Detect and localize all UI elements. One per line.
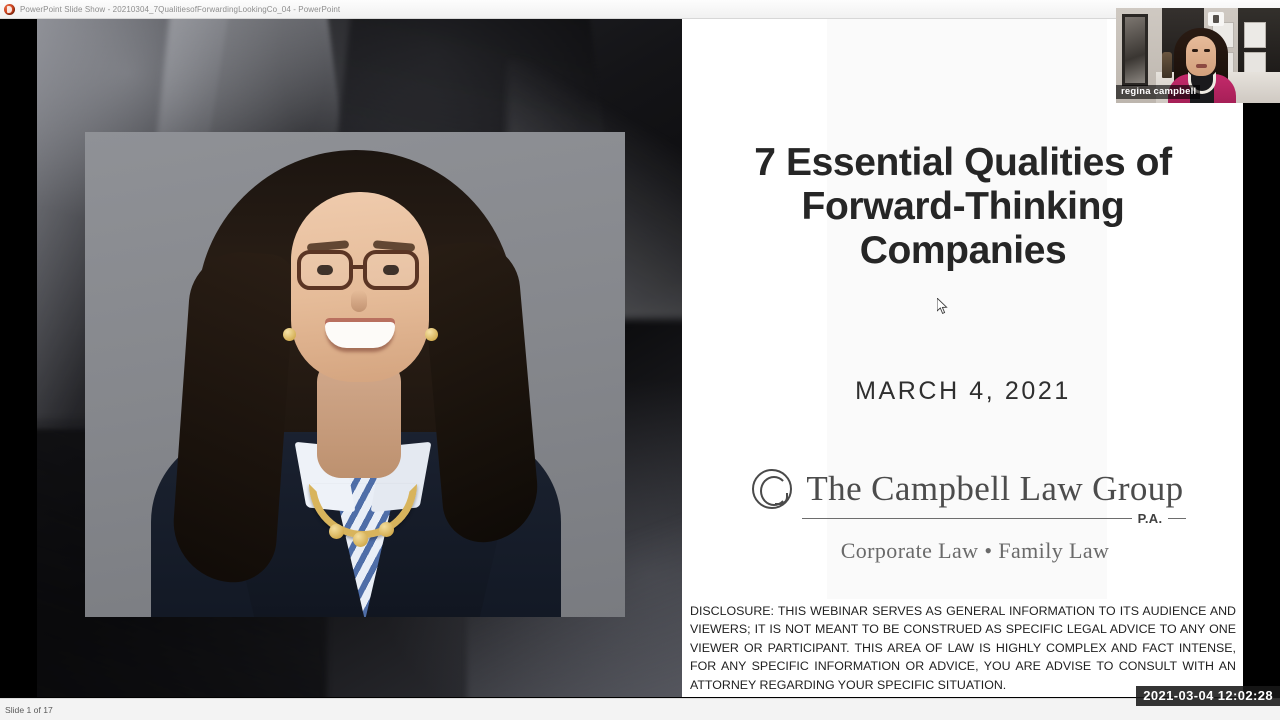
webcam-award-statue (1162, 52, 1172, 78)
portrait-glasses-right (363, 250, 419, 290)
portrait-glasses-left (297, 250, 353, 290)
window-title-bar: PowerPoint Slide Show - 20210304_7Qualit… (0, 0, 1280, 19)
portrait-necklace-bead (379, 522, 394, 537)
logo-name-row: The Campbell Law Group (712, 469, 1224, 509)
logo-suffix: P.A. (1138, 511, 1163, 526)
slide-canvas[interactable]: 7 Essential Qualities of Forward-Thinkin… (37, 19, 1243, 697)
portrait-nose (351, 290, 367, 312)
webcam-speaker-eye-left (1192, 49, 1198, 52)
webcam-wall-frame (1244, 52, 1266, 74)
portrait-earring-left (283, 328, 296, 341)
slideshow-status-bar: Slide 1 of 17 (0, 698, 1280, 720)
company-logo: The Campbell Law Group P.A. Corporate La… (712, 469, 1224, 564)
portrait-glasses-bridge (351, 265, 367, 269)
circled-c-monogram-icon (752, 469, 792, 509)
slide-photo-panel (37, 19, 682, 697)
slide-content-panel: 7 Essential Qualities of Forward-Thinkin… (682, 19, 1243, 697)
logo-tagline: Corporate Law • Family Law (712, 538, 1224, 564)
webcam-floor-mirror (1122, 14, 1148, 86)
logo-company-name: The Campbell Law Group (806, 469, 1183, 509)
webcam-speaker-eye-right (1204, 49, 1210, 52)
slide-counter: Slide 1 of 17 (0, 705, 53, 715)
portrait-earring-right (425, 328, 438, 341)
powerpoint-slideshow-window: PowerPoint Slide Show - 20210304_7Qualit… (0, 0, 1280, 720)
webcam-participant-name: regina campbell (1116, 85, 1200, 99)
logo-divider-row: P.A. (712, 511, 1224, 526)
portrait-necklace-bead (329, 524, 344, 539)
webcam-speaker-mouth (1196, 64, 1207, 68)
logo-divider-line (802, 518, 1132, 519)
slideshow-stage[interactable]: 7 Essential Qualities of Forward-Thinkin… (0, 19, 1280, 698)
webcam-speaker-face (1186, 36, 1216, 76)
webcam-wall-frame (1244, 22, 1266, 48)
powerpoint-icon (4, 4, 15, 15)
logo-divider-line-short (1168, 518, 1186, 519)
recording-timestamp: 2021-03-04 12:02:28 (1136, 686, 1280, 706)
window-title: PowerPoint Slide Show - 20210304_7Qualit… (20, 5, 340, 14)
webcam-wall-plaque (1208, 12, 1224, 26)
webcam-overlay[interactable]: regina campbell (1116, 8, 1280, 103)
slide-title: 7 Essential Qualities of Forward-Thinkin… (704, 141, 1222, 273)
portrait-necklace-bead (353, 532, 368, 547)
disclosure-text: DISCLOSURE: THIS WEBINAR SERVES AS GENER… (690, 602, 1236, 694)
slide-date: MARCH 4, 2021 (704, 377, 1222, 406)
speaker-headshot-image (85, 132, 625, 617)
portrait-smile (325, 322, 395, 348)
